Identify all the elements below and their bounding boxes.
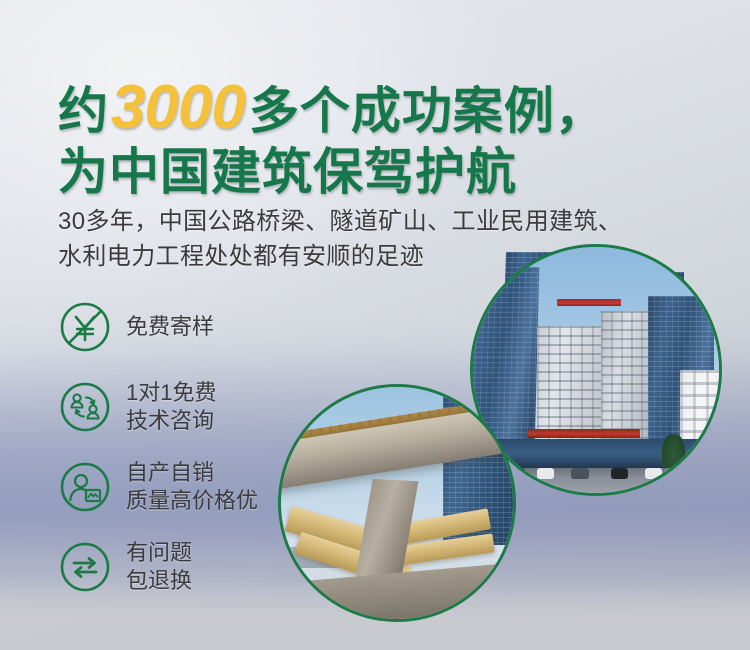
feature-line-1: 有问题 [126, 539, 192, 567]
concrete-viaduct-photo [278, 384, 516, 622]
one-on-one-consult-icon [58, 380, 112, 434]
feature-line-2: 包退换 [126, 567, 192, 595]
subtitle: 30多年，中国公路桥梁、隧道矿山、工业民用建筑、 水利电力工程处处都有安顺的足迹 [58, 205, 622, 275]
feature-text: 免费寄样 [126, 313, 214, 341]
parked-car [611, 468, 628, 479]
headline-line-2: 为中国建筑保驾护航 [58, 146, 606, 198]
self-production-quality-icon [58, 460, 112, 514]
rooftop-sign [557, 299, 621, 306]
feature-text: 有问题 包退换 [126, 539, 192, 595]
feature-list: 免费寄样 1对1免费 技术咨询 [58, 296, 258, 598]
headline-line-1: 约3000多个成功案例， [58, 76, 606, 140]
subtitle-line-1: 30多年，中国公路桥梁、隧道矿山、工业民用建筑、 [58, 205, 622, 240]
viaduct-photo-inner [281, 387, 513, 619]
feature-line-2: 质量高价格优 [126, 487, 258, 515]
return-exchange-icon [58, 540, 112, 594]
street-tree [662, 434, 684, 471]
facade-sign [527, 429, 640, 438]
feature-item-free-sample: 免费寄样 [58, 296, 258, 358]
feature-line-2: 技术咨询 [126, 407, 216, 435]
free-sample-icon [58, 300, 112, 354]
promo-banner: 约3000多个成功案例， 为中国建筑保驾护航 30多年，中国公路桥梁、隧道矿山、… [0, 0, 750, 650]
subtitle-line-2: 水利电力工程处处都有安顺的足迹 [58, 240, 622, 275]
headline: 约3000多个成功案例， 为中国建筑保驾护航 [58, 76, 606, 198]
feature-line-1: 自产自销 [126, 459, 258, 487]
parked-car [571, 468, 588, 479]
feature-item-return-exchange: 有问题 包退换 [58, 536, 258, 598]
feature-text: 自产自销 质量高价格优 [126, 459, 258, 515]
parked-car [537, 468, 554, 479]
feature-item-self-production: 自产自销 质量高价格优 [58, 456, 258, 518]
feature-text: 1对1免费 技术咨询 [126, 379, 216, 435]
feature-item-one-on-one: 1对1免费 技术咨询 [58, 376, 258, 438]
parked-car [645, 468, 662, 479]
headline-suffix: 多个成功案例， [249, 83, 606, 139]
feature-line-1: 免费寄样 [126, 313, 214, 341]
feature-line-1: 1对1免费 [126, 379, 216, 407]
headline-number: 3000 [109, 73, 249, 142]
headline-prefix: 约 [58, 83, 109, 139]
